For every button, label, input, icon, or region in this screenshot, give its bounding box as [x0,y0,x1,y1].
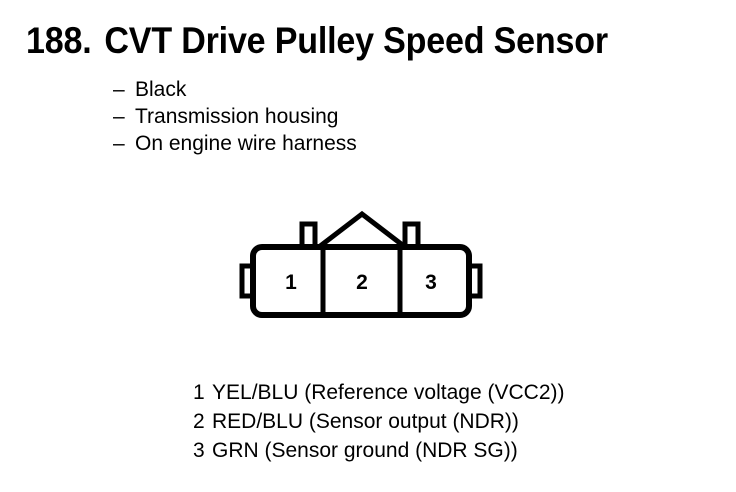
pin-legend-row: 1YEL/BLU (Reference voltage (VCC2)) [193,378,564,407]
list-item: –Transmission housing [113,103,357,130]
page-title-number: 188. [26,20,92,61]
pin-number: 1 [193,378,212,407]
attribute-list: –Black –Transmission housing –On engine … [113,76,357,157]
pin-number: 2 [193,407,212,436]
connector-diagram: 1 2 3 [232,203,492,328]
dash-bullet-icon: – [113,76,135,103]
page-title-text: CVT Drive Pulley Speed Sensor [104,20,608,61]
list-item: –On engine wire harness [113,130,357,157]
list-item: –Black [113,76,357,103]
cavity-number-1: 1 [285,271,297,294]
dash-bullet-icon: – [113,103,135,130]
list-item-label: Black [135,78,186,101]
pin-description: GRN (Sensor ground (NDR SG)) [212,439,518,462]
cavity-number-3: 3 [425,271,437,294]
pin-legend-row: 2RED/BLU (Sensor output (NDR)) [193,407,564,436]
dash-bullet-icon: – [113,130,135,157]
page-title: 188.CVT Drive Pulley Speed Sensor [26,22,608,59]
pin-description: YEL/BLU (Reference voltage (VCC2)) [212,381,564,404]
cavity-number-2: 2 [356,271,368,294]
list-item-label: Transmission housing [135,105,338,128]
list-item-label: On engine wire harness [135,132,357,155]
connector-spec-sheet: 188.CVT Drive Pulley Speed Sensor –Black… [0,0,736,492]
pin-legend: 1YEL/BLU (Reference voltage (VCC2)) 2RED… [193,378,564,465]
pin-description: RED/BLU (Sensor output (NDR)) [212,410,519,433]
pin-legend-row: 3GRN (Sensor ground (NDR SG)) [193,436,564,465]
pin-number: 3 [193,436,212,465]
